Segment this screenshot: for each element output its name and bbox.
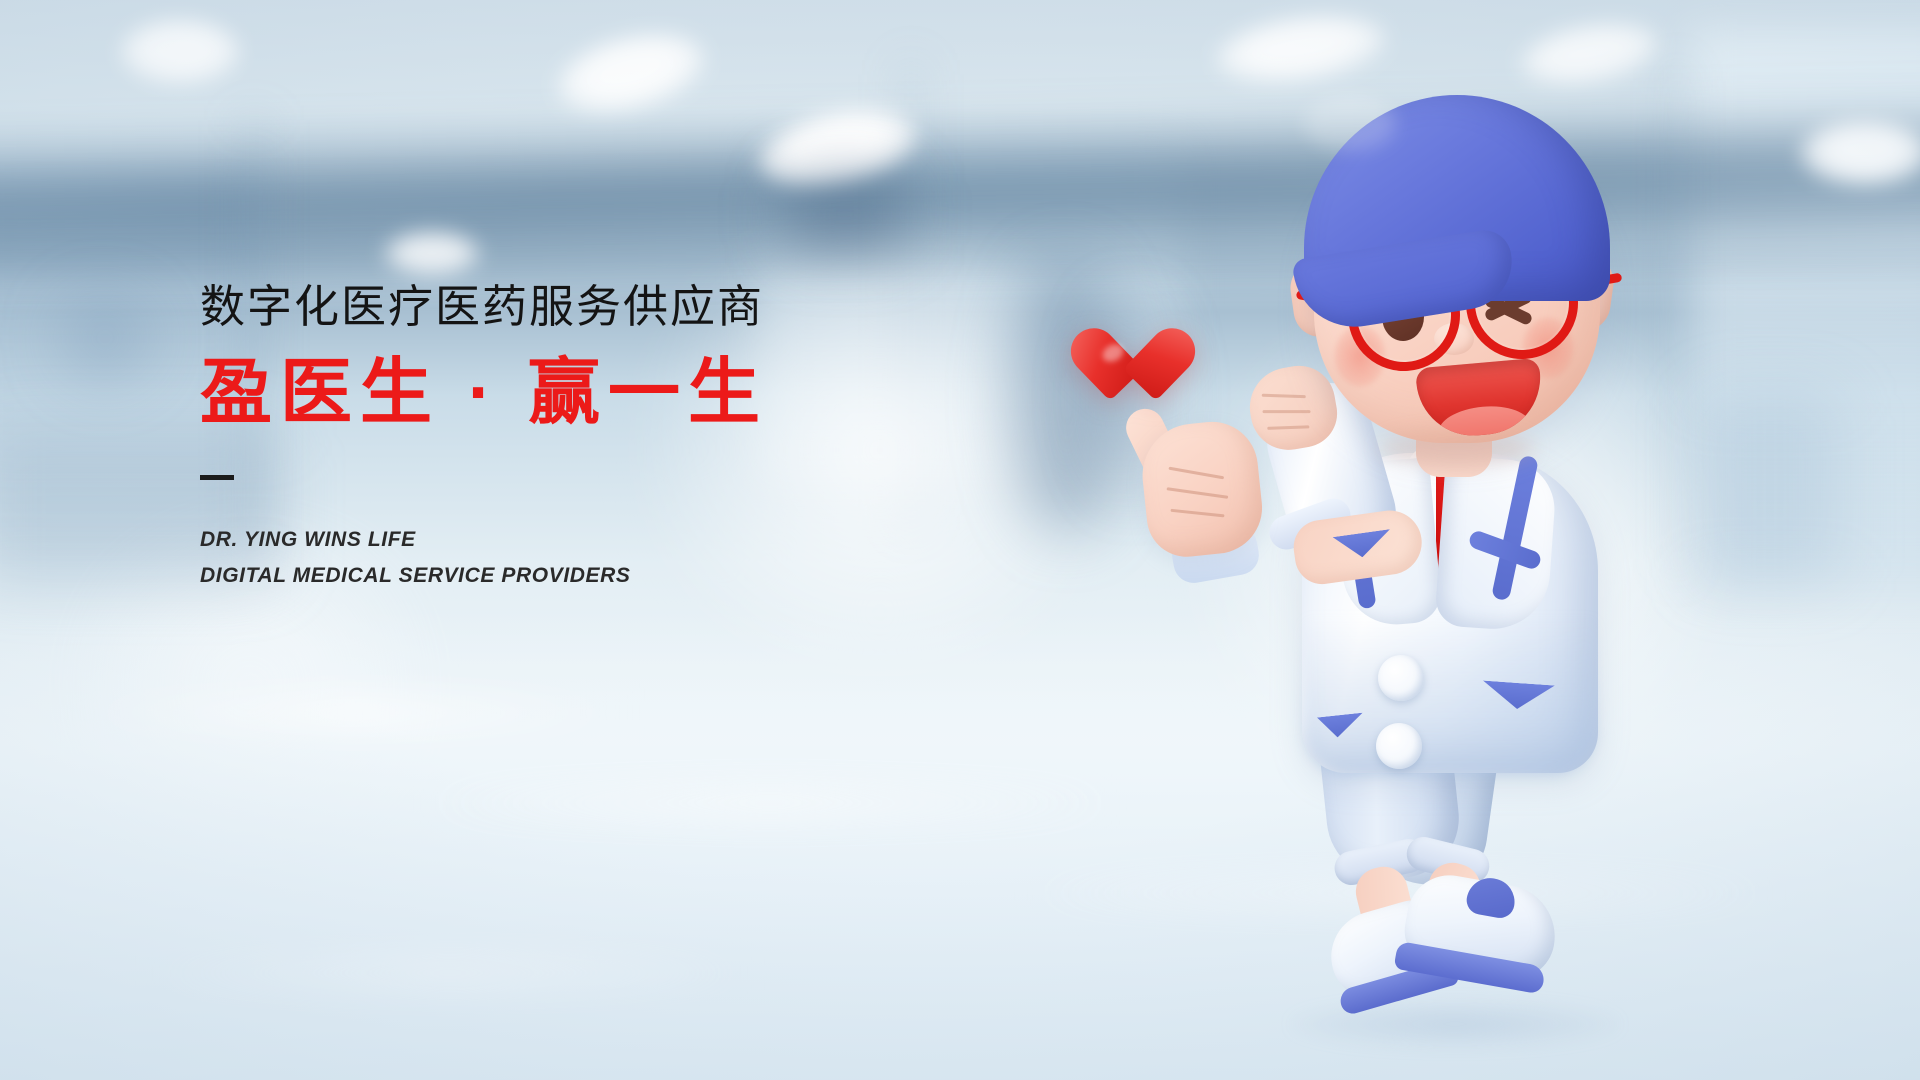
doctor-mascot (1230, 55, 1700, 1045)
mascot-shoe-tongue (1464, 874, 1518, 920)
heart-highlight (1100, 341, 1127, 365)
page-title: 数字化医疗医药服务供应商 (200, 284, 1020, 329)
mascot-coat-button-top (1378, 655, 1424, 701)
mascot-hand-crease-2 (1166, 487, 1228, 499)
mascot-finger-heart-hand (1137, 417, 1266, 560)
mascot-hand-crease-3 (1170, 509, 1224, 518)
heart-icon (1090, 331, 1176, 411)
hero-copy-block: 数字化医疗医药服务供应商 盈医生 · 赢一生 DR. YING WINS LIF… (200, 284, 1020, 594)
mascot-shoe-front (1399, 869, 1563, 986)
mascot-coat-shading (1304, 615, 1596, 775)
mascot-coat-button-bottom (1376, 723, 1422, 769)
english-subtitle-line2: DIGITAL MEDICAL SERVICE PROVIDERS (200, 558, 1020, 594)
mascot-cap-highlight (1304, 95, 1396, 151)
hero-banner: 数字化医疗医药服务供应商 盈医生 · 赢一生 DR. YING WINS LIF… (0, 0, 1920, 1080)
mascot-ground-shadow (1290, 1001, 1620, 1047)
mascot-hand-crease-1 (1168, 467, 1224, 480)
english-subtitle: DR. YING WINS LIFE DIGITAL MEDICAL SERVI… (200, 522, 1020, 594)
slogan: 盈医生 · 赢一生 (200, 357, 1020, 429)
divider-dash (200, 475, 234, 480)
english-subtitle-line1: DR. YING WINS LIFE (200, 522, 1020, 558)
mascot-tongue (1437, 403, 1532, 440)
